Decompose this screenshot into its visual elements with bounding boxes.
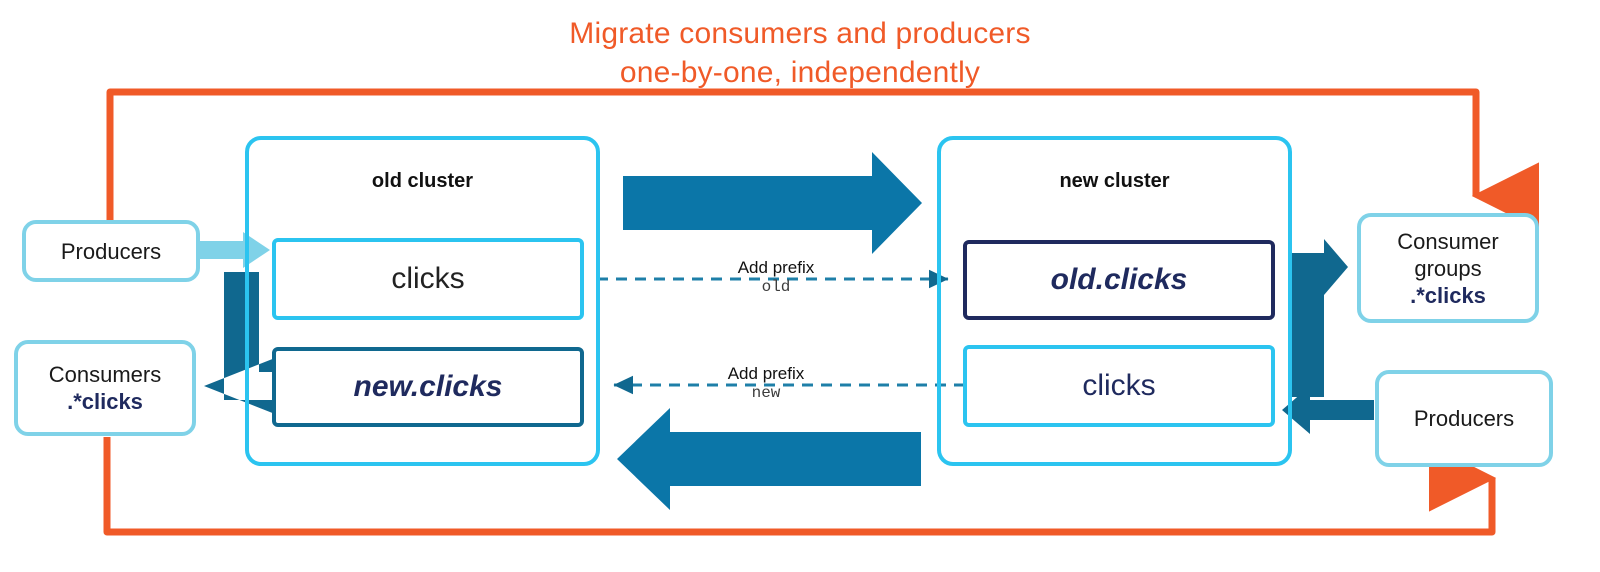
new-cluster-title: new cluster (941, 170, 1288, 193)
new-cluster-topic-clicks-label: clicks (1082, 369, 1155, 403)
new-cluster-topic-old-clicks-label: old.clicks (1051, 263, 1188, 297)
replication-label-new: Add prefix new (650, 364, 882, 403)
left-producers-label: Producers (61, 238, 161, 265)
left-consumers-label: Consumers (49, 361, 161, 388)
new-to-old-replication-arrow (617, 408, 921, 510)
replication-label-new-text: Add prefix (650, 364, 882, 384)
diagram-canvas: Migrate consumers and producers one-by-o… (0, 0, 1600, 572)
replication-label-old-prefix: old (660, 278, 892, 297)
new-cluster-to-consumer-groups-arrow (1289, 239, 1348, 397)
old-cluster-title: old cluster (249, 170, 596, 193)
replication-label-new-prefix: new (650, 384, 882, 403)
right-consumer-groups-filter: .*clicks (1410, 282, 1486, 309)
right-producers-box[interactable]: Producers (1375, 370, 1553, 467)
diagram-title-line2: one-by-one, independently (0, 53, 1600, 92)
old-to-new-replication-arrow (623, 152, 922, 254)
diagram-title-line1: Migrate consumers and producers (0, 14, 1600, 53)
old-cluster-topic-clicks[interactable]: clicks (272, 238, 584, 320)
old-cluster-topic-clicks-label: clicks (391, 262, 464, 296)
new-cluster-topic-old-clicks[interactable]: old.clicks (963, 240, 1275, 320)
right-consumer-groups-label-line2: groups (1414, 255, 1481, 282)
old-cluster-topic-new-clicks-label: new.clicks (354, 370, 503, 404)
left-producers-box[interactable]: Producers (22, 220, 200, 282)
diagram-title: Migrate consumers and producers one-by-o… (0, 14, 1600, 92)
right-consumer-groups-box[interactable]: Consumer groups .*clicks (1357, 213, 1539, 323)
old-cluster-topic-new-clicks[interactable]: new.clicks (272, 347, 584, 427)
left-consumers-filter: .*clicks (67, 388, 143, 415)
replication-label-old: Add prefix old (660, 258, 892, 297)
replication-label-old-text: Add prefix (660, 258, 892, 278)
right-consumer-groups-label-line1: Consumer (1397, 228, 1498, 255)
new-cluster-topic-clicks[interactable]: clicks (963, 345, 1275, 427)
right-producers-label: Producers (1414, 405, 1514, 432)
left-consumers-box[interactable]: Consumers .*clicks (14, 340, 196, 436)
